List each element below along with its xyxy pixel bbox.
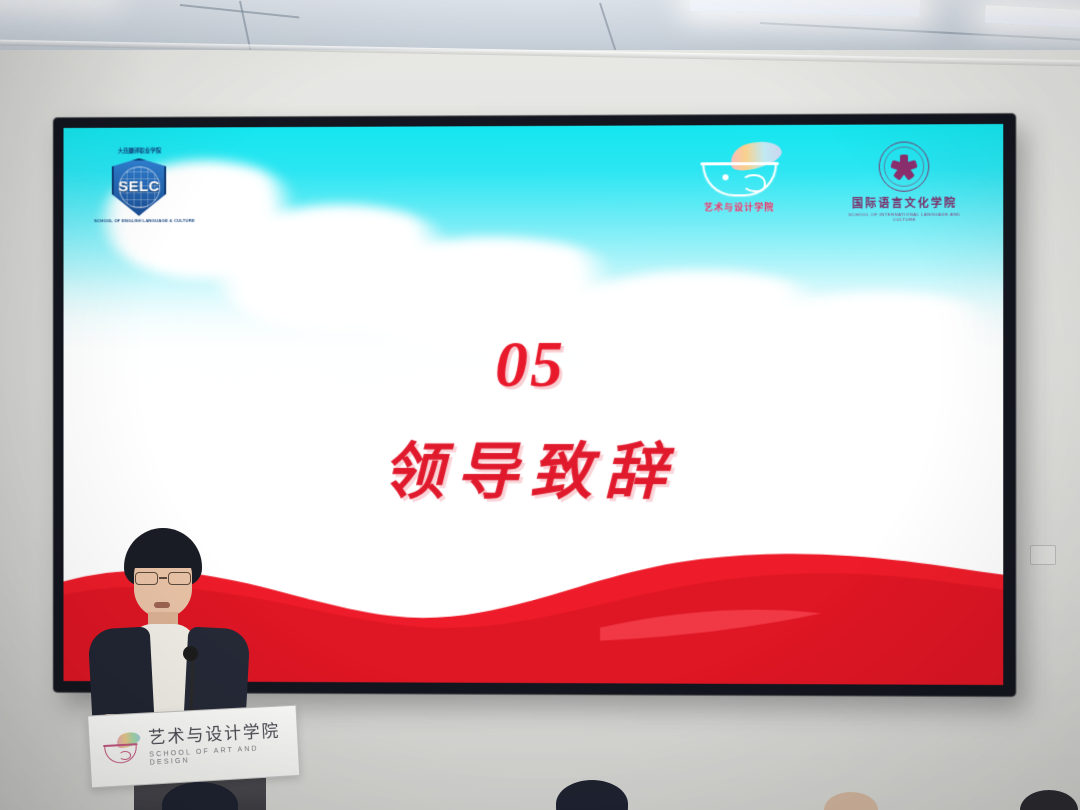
ceiling-light-panel	[985, 5, 1080, 29]
selc-logo-arc-top: 大连翻译职业学院	[94, 146, 185, 154]
ilc-logo-label-en: SCHOOL OF INTERNATIONAL LANGUAGE AND CUL…	[836, 211, 973, 221]
art-design-logo-mark	[689, 144, 790, 203]
lectern-sign: 艺术与设计学院 SCHOOL OF ART AND DESIGN	[87, 705, 300, 789]
selc-shield-logo: 大连翻译职业学院 SELC SCHOOL OF ENGLISH LANGUAGE…	[94, 145, 185, 225]
microphone-icon[interactable]	[183, 646, 198, 661]
wall-outlet-plate	[1030, 545, 1056, 565]
presenter-at-podium	[94, 528, 264, 718]
ceiling-light-panel	[690, 0, 921, 17]
eyeglasses-icon	[134, 572, 192, 585]
international-language-culture-school-logo: 国际语言文化学院 SCHOOL OF INTERNATIONAL LANGUAG…	[836, 141, 973, 228]
presentation-room-scene: 大连翻译职业学院 SELC SCHOOL OF ENGLISH LANGUAGE…	[0, 0, 1080, 810]
ceiling-light-panel	[0, 0, 110, 1]
pinwheel-icon	[890, 152, 918, 180]
podium-area: 艺术与设计学院 SCHOOL OF ART AND DESIGN	[56, 528, 356, 810]
speaker-mouth	[154, 602, 170, 608]
slide-title: 领导致辞	[64, 421, 1004, 512]
seal-icon	[879, 141, 930, 191]
selc-logo-mark-text: SELC	[118, 179, 160, 196]
selc-logo-arc-bottom: SCHOOL OF ENGLISH LANGUAGE & CULTURE	[94, 218, 185, 223]
art-design-sign-logo-icon	[99, 732, 141, 769]
speaker-jacket-left	[88, 626, 155, 721]
speaker-fringe	[126, 542, 200, 568]
art-design-school-logo: 艺术与设计学院	[689, 144, 790, 227]
selc-shield-shape: SELC	[112, 158, 166, 216]
slide-section-number: 05	[64, 326, 1004, 403]
lectern-sign-text: 艺术与设计学院 SCHOOL OF ART AND DESIGN	[148, 721, 289, 768]
ilc-logo-label-cn: 国际语言文化学院	[836, 194, 973, 211]
